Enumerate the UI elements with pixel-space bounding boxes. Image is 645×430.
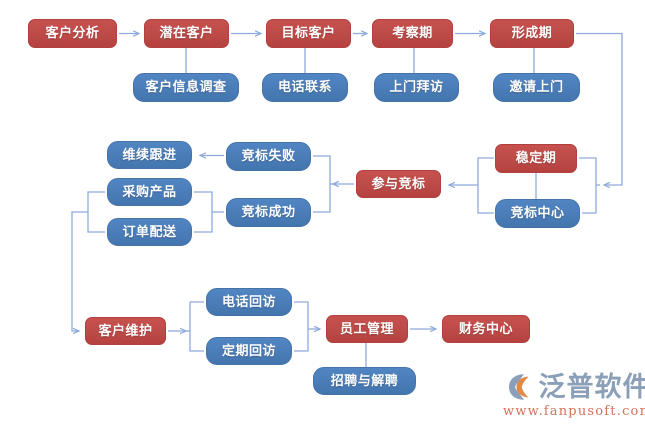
flow-node-label: 客户分析 [45,27,99,40]
logo-brand-text: 泛普软件 [539,374,645,401]
flow-node-n16[interactable]: 采购产品 [107,178,192,206]
flow-node-label: 招聘与解聘 [331,375,399,388]
edge-n14-bracket [194,192,224,212]
logo-url-text: www.fanpusoft.com [503,404,645,419]
flowchart-canvas: 客户分析潜在客户目标客户考察期形成期客户信息调查电话联系上门拜访邀请上门稳定期竞… [0,0,645,430]
edge-right-bracket [579,158,596,213]
flow-node-label: 电话联系 [278,81,332,94]
edge-bottom-bracket-l [190,302,204,351]
flow-node-n1[interactable]: 客户分析 [28,19,117,48]
flow-node-label: 形成期 [512,27,553,40]
flow-node-label: 竞标成功 [241,206,295,219]
flow-node-n5[interactable]: 形成期 [490,19,574,48]
edge-bid-bracket [478,158,494,213]
edge-to-n18 [72,212,88,331]
flow-node-label: 竞标中心 [510,207,564,220]
flow-node-label: 邀请上门 [509,81,563,94]
flow-node-n3[interactable]: 目标客户 [266,19,351,48]
flow-node-n21[interactable]: 员工管理 [326,315,408,343]
flow-node-label: 定期回访 [222,345,276,358]
flow-node-n20[interactable]: 定期回访 [206,337,292,365]
flow-node-n14[interactable]: 竞标成功 [226,198,311,227]
flow-node-label: 员工管理 [340,323,394,336]
flow-node-n19[interactable]: 电话回访 [206,288,292,316]
flow-node-label: 目标客户 [281,27,335,40]
flow-node-n23[interactable]: 招聘与解聘 [313,367,416,395]
flow-node-n10[interactable]: 稳定期 [495,144,577,173]
flow-node-n12[interactable]: 参与竞标 [356,170,441,198]
flow-node-n2[interactable]: 潜在客户 [144,19,229,48]
flow-node-label: 潜在客户 [159,27,213,40]
flow-node-label: 客户维护 [98,325,152,338]
fanpu-swoosh-icon [506,372,536,402]
flow-node-n15[interactable]: 维续跟进 [107,141,192,169]
flow-node-label: 维续跟进 [122,149,176,162]
edge-bottom-bracket-r [294,302,308,351]
flow-node-n11[interactable]: 竞标中心 [495,199,580,228]
fanpu-logo: 泛普软件 www.fanpusoft.com [503,372,645,419]
flow-node-n7[interactable]: 电话联系 [262,73,348,102]
edge-n14-bracket2 [194,212,212,232]
flow-node-n4[interactable]: 考察期 [372,19,453,48]
edge-left-bracket [88,192,105,232]
flow-node-label: 电话回访 [222,296,276,309]
flow-node-label: 考察期 [392,27,433,40]
flow-node-label: 订单配送 [122,226,176,239]
flow-node-label: 采购产品 [122,186,176,199]
flow-node-label: 财务中心 [459,323,513,336]
edge-n5-loop [576,34,622,186]
flow-node-label: 客户信息调查 [145,81,226,94]
edge-n12-bracket [313,156,330,212]
flow-node-n17[interactable]: 订单配送 [107,218,192,246]
flow-node-n22[interactable]: 财务中心 [442,315,530,343]
flow-node-n8[interactable]: 上门拜访 [374,73,459,102]
flow-node-n13[interactable]: 竞标失败 [226,142,311,171]
flow-node-label: 竞标失败 [241,150,295,163]
flow-node-n18[interactable]: 客户维护 [85,317,166,345]
flow-node-n9[interactable]: 邀请上门 [493,73,580,102]
flow-node-label: 参与竞标 [371,178,425,191]
flow-node-label: 稳定期 [516,152,557,165]
flow-node-n6[interactable]: 客户信息调查 [133,73,239,102]
flow-node-label: 上门拜访 [389,81,443,94]
